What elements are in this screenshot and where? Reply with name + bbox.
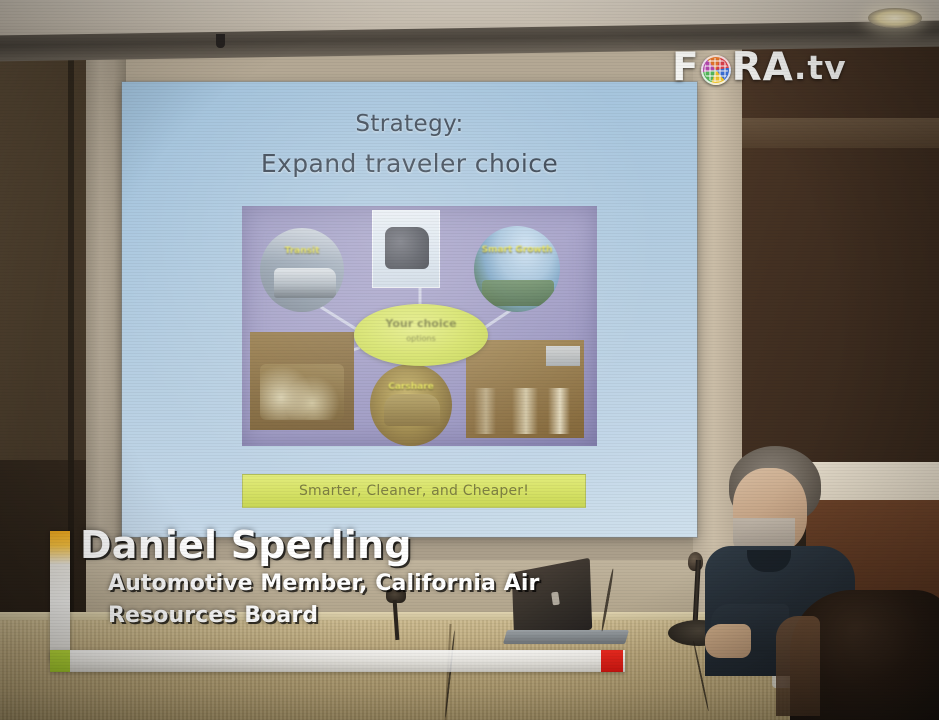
diagram-hub-label: Your choice options — [354, 316, 488, 346]
node-caption-transit: Transit — [260, 246, 344, 256]
speaker-name: Daniel Sperling — [80, 522, 620, 568]
video-frame: Strategy: Expand traveler choice Transit… — [0, 0, 939, 720]
logo-letters-ra: RA — [732, 48, 794, 87]
node-caption-carshare: Carshare — [370, 382, 452, 392]
diagram-hub: Your choice options — [354, 304, 488, 366]
lower-third-horizontal-bar — [50, 650, 625, 672]
slide-banner: Smarter, Cleaner, and Cheaper! — [242, 474, 586, 508]
lower-third-red-cap — [601, 650, 623, 672]
node-caption-smart-growth: Smart Growth — [474, 245, 560, 255]
speaker-role-line1: Automotive Member, California Air — [80, 568, 620, 600]
right-wall-panel — [742, 118, 939, 148]
diagram-node-car-sharing: Carshare — [370, 364, 452, 446]
logo-tv-suffix: .tv — [794, 51, 847, 84]
slide-title: Strategy: Expand traveler choice — [122, 104, 697, 184]
laptop-base — [503, 630, 629, 644]
fora-tv-logo: F RA .tv — [672, 48, 847, 87]
right-wood-wall — [742, 40, 939, 500]
projection-screen: Strategy: Expand traveler choice Transit… — [122, 82, 697, 537]
speaker-role-line2: Resources Board — [80, 600, 620, 632]
hub-label-sub: options — [354, 331, 488, 346]
logo-letter-f: F — [672, 48, 700, 87]
diagram-node-efficient-engine — [250, 332, 354, 430]
foreground-attendee — [790, 590, 939, 720]
slide-banner-text: Smarter, Cleaner, and Cheaper! — [299, 483, 529, 499]
ceiling-light-icon — [868, 8, 922, 28]
lower-third-text-block: Daniel Sperling Automotive Member, Calif… — [80, 522, 620, 632]
speaker-hand — [705, 624, 751, 658]
slide-title-line2: Expand traveler choice — [122, 144, 697, 184]
diagram-node-smart-growth: Smart Growth — [474, 226, 560, 312]
diagram-node-city-walking — [466, 340, 584, 438]
screen-mount-hook-icon — [216, 34, 225, 48]
slide-title-line1: Strategy: — [122, 104, 697, 144]
diagram-node-neighborhood-cart — [372, 210, 440, 288]
lower-third-green-cap — [50, 650, 70, 672]
lower-third-vertical-accent-bar — [50, 531, 70, 661]
hub-label-main: Your choice — [354, 316, 488, 331]
slide-diagram: Transit Smart Growth Carshare Your choic… — [242, 206, 597, 446]
logo-color-wheel-icon — [701, 55, 731, 85]
city-node-highlight — [546, 346, 580, 366]
diagram-node-transit-bus: Transit — [260, 228, 344, 312]
